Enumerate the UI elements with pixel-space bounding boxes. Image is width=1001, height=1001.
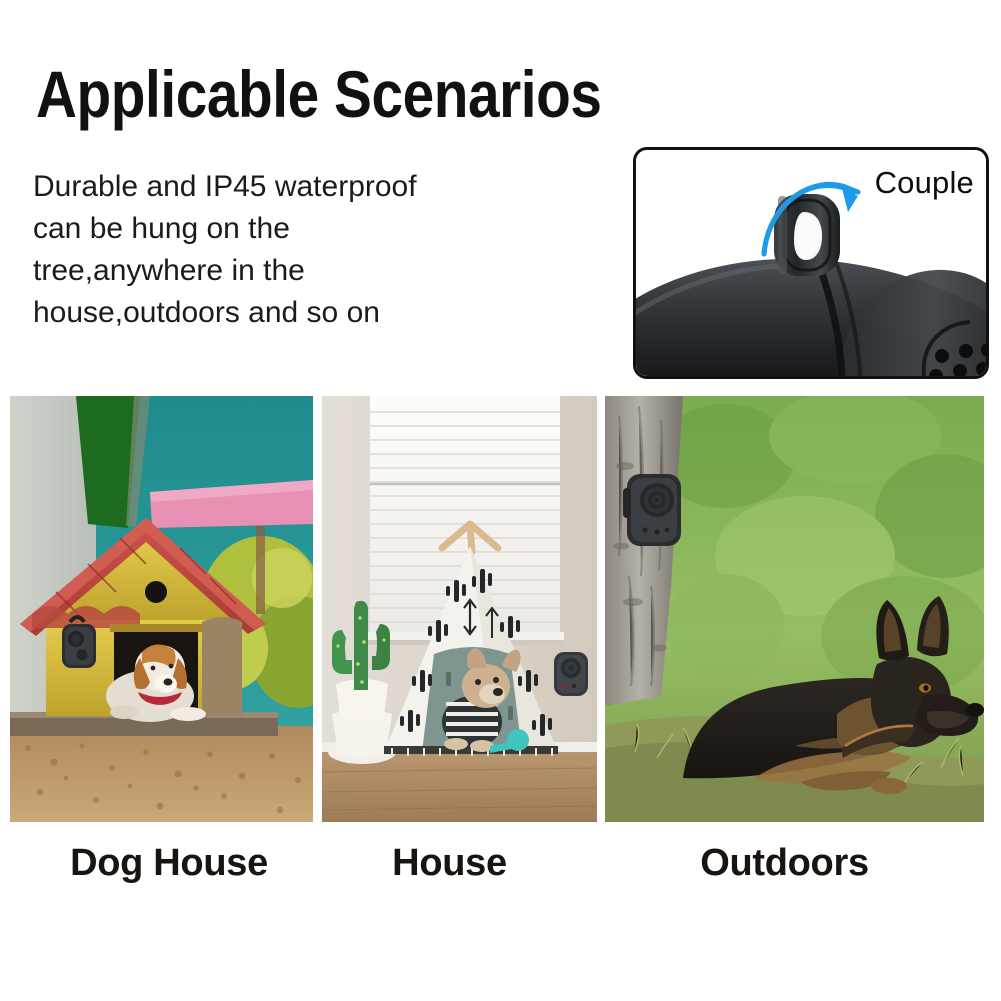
caption-outdoors: Outdoors xyxy=(595,840,974,886)
outdoors-photo xyxy=(605,396,984,822)
caption-dog-house: Dog House xyxy=(0,840,338,886)
scenario-photo-row xyxy=(10,396,984,822)
description-text: Durable and IP45 waterproof can be hung … xyxy=(33,166,553,334)
description-line-2: can be hung on the xyxy=(33,208,553,250)
house-photo xyxy=(322,396,597,822)
device-on-tree xyxy=(623,474,681,546)
caption-house: House xyxy=(312,840,587,886)
device-on-wall xyxy=(554,652,588,696)
description-line-4: house,outdoors and so on xyxy=(33,292,553,334)
page-title: Applicable Scenarios xyxy=(36,58,690,134)
couple-label: Couple xyxy=(875,166,974,200)
couple-inset-panel: Couple xyxy=(633,147,989,379)
dog-house-photo xyxy=(10,396,313,822)
description-line-3: tree,anywhere in the xyxy=(33,250,553,292)
description-line-1: Durable and IP45 waterproof xyxy=(33,166,553,208)
